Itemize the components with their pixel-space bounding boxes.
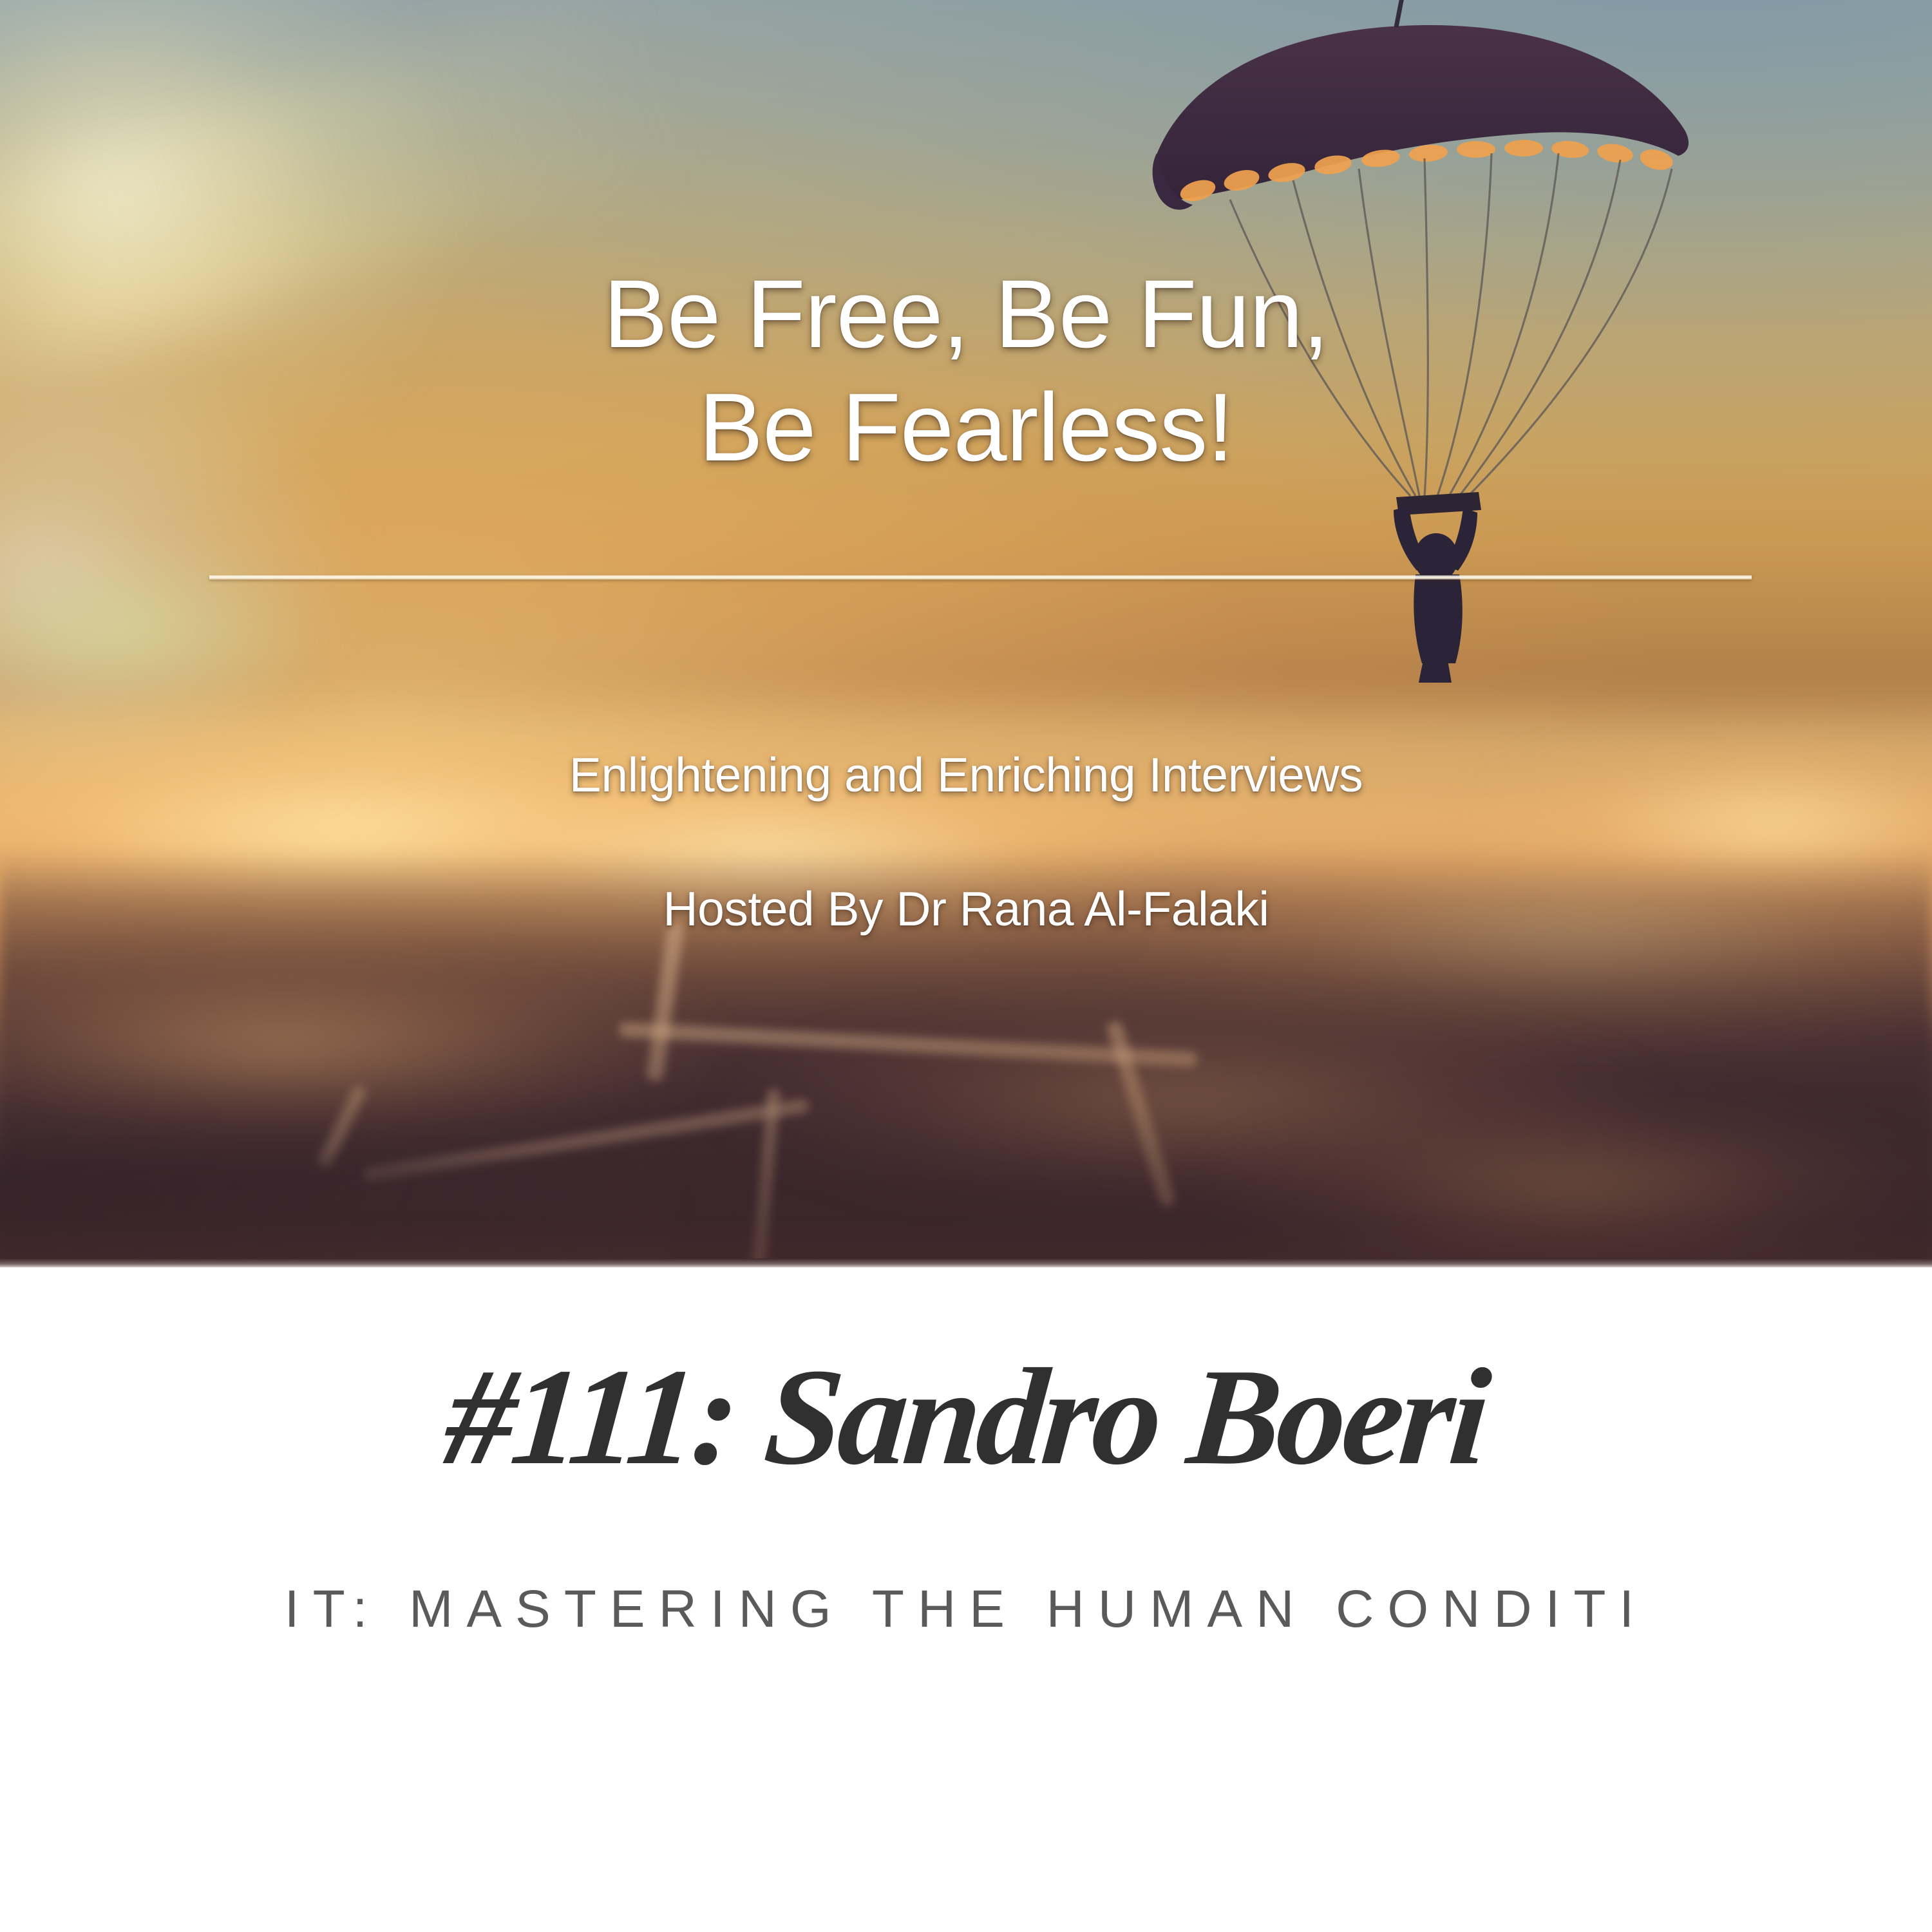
podcast-episode-card: Be Free, Be Fun, Be Fearless! Enlighteni… (0, 0, 1932, 1932)
page-title: Be Free, Be Fun, Be Fearless! (0, 258, 1932, 484)
hero-text-overlay: Be Free, Be Fun, Be Fearless! Enlighteni… (0, 0, 1932, 1267)
hero-subtitle-tagline: Enlightening and Enriching Interviews (0, 747, 1932, 802)
hero-subtitle-host: Hosted By Dr Rana Al-Falaki (0, 881, 1932, 936)
episode-title: #111: Sandro Boeri (0, 1347, 1932, 1486)
episode-subtitle: IT: MASTERING THE HUMAN CONDITI (0, 1579, 1932, 1640)
episode-info-panel: #111: Sandro Boeri IT: MASTERING THE HUM… (0, 1276, 1932, 1932)
title-divider (209, 575, 1752, 580)
